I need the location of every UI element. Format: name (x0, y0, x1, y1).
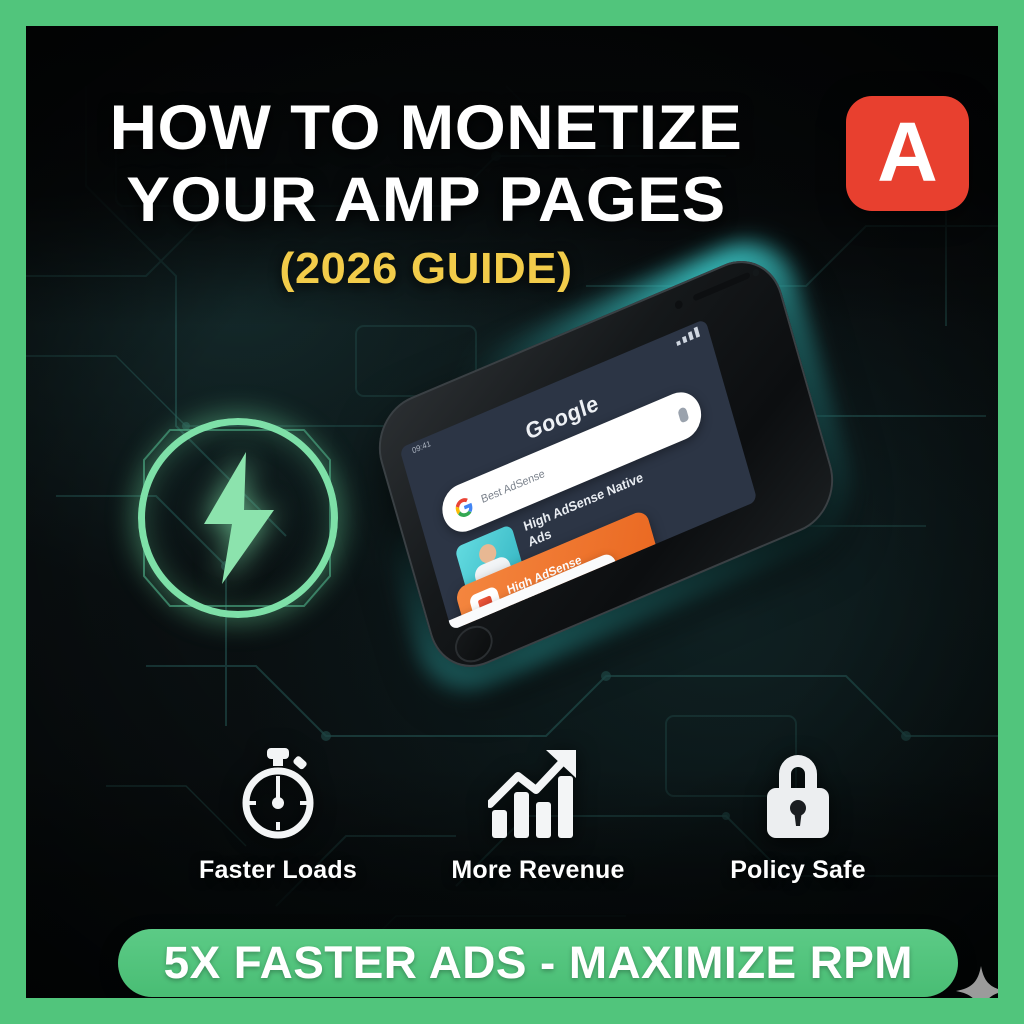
feature-item-more-revenue: More Revenue (408, 748, 668, 885)
google-g-icon (454, 495, 475, 520)
lightning-emblem (138, 418, 338, 618)
feature-row: Faster Loads More Revenue (26, 748, 998, 885)
poster-frame: HOW TO MONETIZE YOUR AMP PAGES (2026 GUI… (0, 0, 1024, 1024)
phone-earpiece (693, 272, 751, 302)
feature-label: Policy Safe (668, 856, 928, 885)
feature-item-policy-safe: Policy Safe (668, 748, 928, 885)
padlock-icon (668, 748, 928, 840)
phone-front-camera-icon (674, 299, 684, 310)
amp-logo-letter: A (877, 110, 938, 194)
lightning-bolt-icon (188, 450, 288, 586)
microphone-icon[interactable] (677, 406, 689, 423)
bottom-banner: 5X FASTER ADS - MAXIMIZE RPM (118, 929, 958, 997)
banner-text: 5X FASTER ADS - MAXIMIZE RPM (163, 937, 912, 989)
stopwatch-icon (148, 748, 408, 840)
four-point-star-icon (954, 964, 998, 998)
search-placeholder: Best AdSense (480, 468, 546, 506)
feature-item-faster-loads: Faster Loads (148, 748, 408, 885)
signal-bars-icon (675, 327, 701, 346)
phone-mockup: 09:41 Google (326, 316, 966, 716)
page-title-line-1: HOW TO MONETIZE (26, 92, 842, 164)
amp-logo-badge: A (846, 96, 969, 211)
poster-inner-canvas: HOW TO MONETIZE YOUR AMP PAGES (2026 GUI… (26, 26, 998, 998)
status-bar-time: 09:41 (411, 439, 432, 456)
feature-label: More Revenue (408, 856, 668, 885)
bar-chart-up-arrow-icon (408, 748, 668, 840)
phone-sensor-icon (752, 268, 760, 278)
page-title-line-2: YOUR AMP PAGES (26, 164, 842, 236)
feature-label: Faster Loads (148, 856, 408, 885)
